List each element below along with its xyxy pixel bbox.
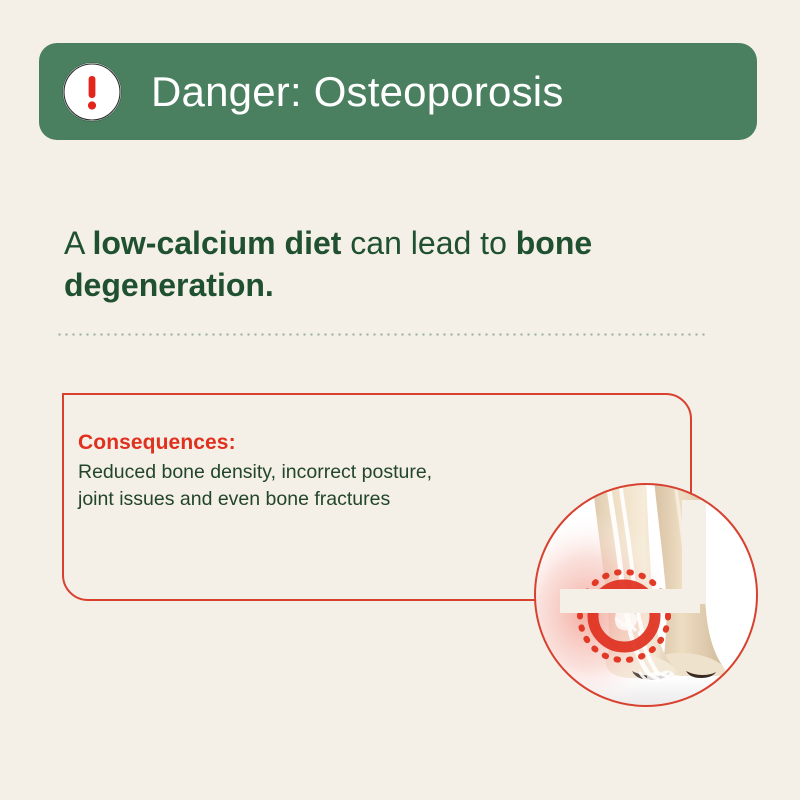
header-banner: Danger: Osteoporosis: [39, 43, 757, 140]
exclamation-circle-icon: [63, 63, 121, 121]
lead-text-part1: A: [64, 225, 92, 261]
infographic-canvas: Danger: Osteoporosis A low-calcium diet …: [0, 0, 800, 800]
consequences-heading: Consequences:: [78, 430, 548, 456]
border-mask-bottom: [560, 589, 700, 613]
page-title: Danger: Osteoporosis: [151, 71, 564, 113]
consequences-body: Reduced bone density, incorrect posture,…: [78, 459, 548, 513]
lead-text-part2: can lead to: [341, 225, 515, 261]
dotted-divider: [56, 333, 706, 336]
lead-text-bold1: low-calcium diet: [92, 225, 341, 261]
lead-statement: A low-calcium diet can lead to bone dege…: [64, 222, 704, 306]
consequences-text-group: Consequences: Reduced bone density, inco…: [78, 430, 548, 513]
